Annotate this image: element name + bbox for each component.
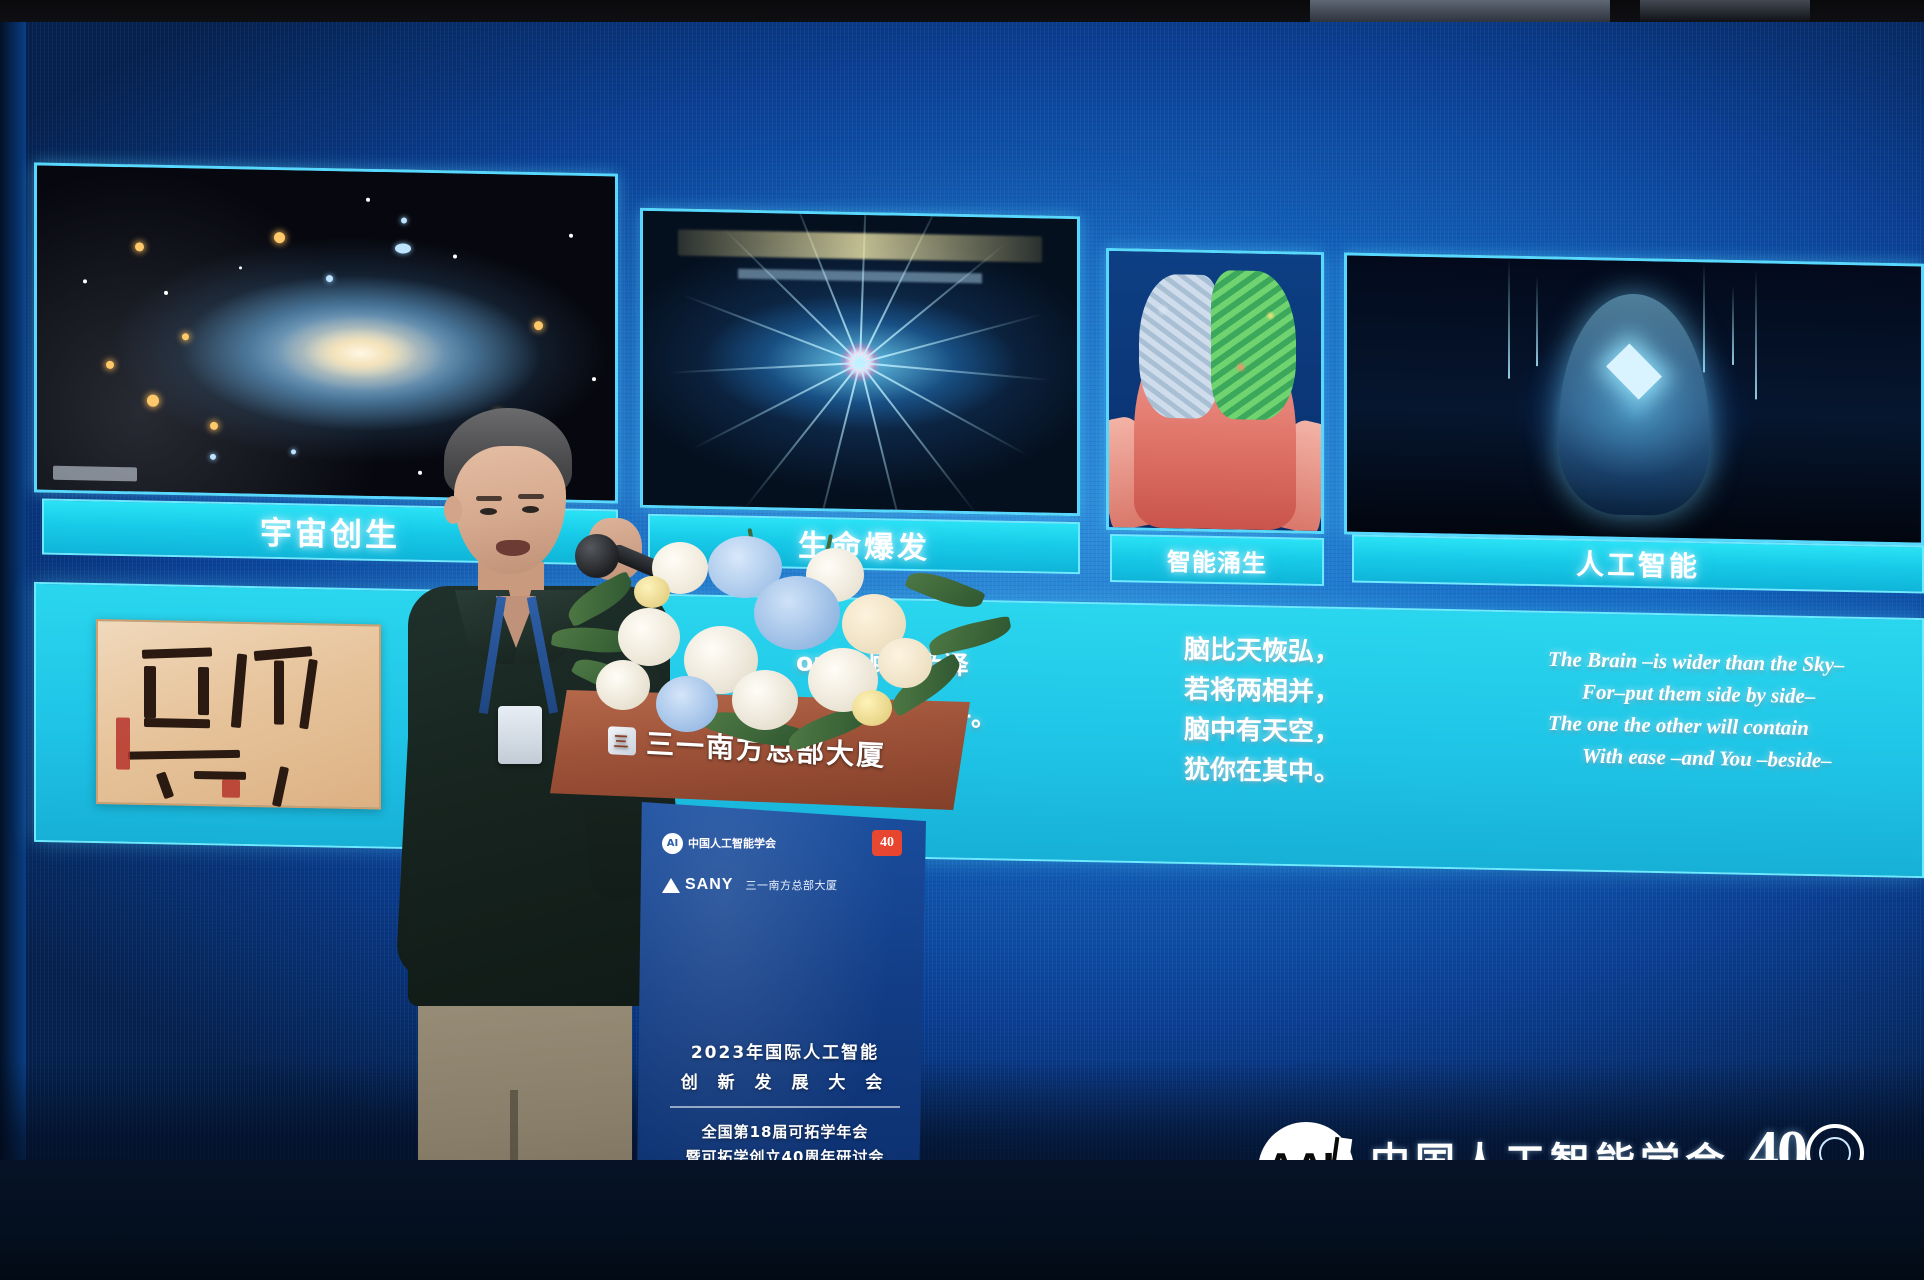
flower-yellow-accent	[634, 576, 670, 608]
speaker-mouth	[496, 540, 530, 556]
ceiling-light-panel-secondary	[1640, 0, 1810, 22]
flower-cream	[878, 638, 932, 688]
podium-sany-logo: SANY	[662, 876, 733, 894]
brain-left-hemisphere	[1139, 274, 1220, 419]
flower-hydrangea-blue	[656, 676, 718, 732]
speaker-brow-left	[476, 496, 502, 501]
podium-building-label: 三一南方总部大厦	[745, 877, 837, 893]
flower-white	[618, 608, 680, 666]
poem-cn-line-4: 犹你在其中。	[1184, 750, 1340, 793]
podium-anniversary-badge: 40	[872, 830, 902, 856]
podium-event-line-2: 创 新 发 展 大 会	[664, 1068, 906, 1093]
wall-left-edge	[0, 22, 26, 1162]
panel-caption-intelligence: 智能涌生	[1110, 534, 1324, 586]
podium-logo-row: AI 中国人工智能学会 40	[662, 830, 902, 856]
podium-sany-label: SANY	[685, 876, 733, 894]
podium-event-line-3: 全国第18届可拓学年会	[664, 1121, 906, 1142]
poem-chinese-translation: 脑比天恢弘， 若将两相并， 脑中有天空， 犹你在其中。	[1184, 630, 1340, 793]
speaker-brow-right	[518, 494, 544, 499]
ai-humanoid-head-graphic	[1347, 255, 1921, 542]
slide-panel-ai	[1344, 252, 1924, 545]
conference-stage-photo: 宇宙创生 生命爆发 智能涌生	[0, 0, 1924, 1280]
brain-right-hemisphere	[1211, 269, 1296, 420]
poem-en-line-4: With ease –and You –beside–	[1548, 739, 1844, 777]
poem-cn-line-1: 脑比天恢弘，	[1184, 630, 1340, 673]
chinese-calligraphy-scroll	[96, 619, 381, 809]
podium-caai-logo: AI 中国人工智能学会	[662, 833, 776, 854]
speaker-eye-left	[480, 508, 497, 515]
slide-panel-intelligence	[1106, 248, 1324, 534]
flower-white	[732, 670, 798, 730]
podium-sponsor-row: SANY 三一南方总部大厦	[662, 876, 912, 894]
podium-event-divider	[670, 1106, 900, 1108]
podium-event-title-block: 2023年国际人工智能 创 新 发 展 大 会 全国第18届可拓学年会 暨可拓学…	[664, 1038, 906, 1167]
flower-yellow-accent	[852, 690, 892, 726]
podium-caai-mark-icon: AI	[662, 833, 683, 854]
flower-hydrangea-blue	[754, 576, 840, 650]
sany-triangle-icon	[662, 878, 680, 893]
speaker-ear	[444, 496, 462, 524]
stage-floor	[0, 1160, 1924, 1280]
poem-cn-line-3: 脑中有天空，	[1184, 710, 1340, 753]
podium-event-line-1: 2023年国际人工智能	[664, 1038, 906, 1063]
flower-white	[596, 660, 650, 710]
speaker-name-badge	[498, 706, 542, 764]
poem-cn-line-2: 若将两相并，	[1184, 670, 1340, 713]
brain-hemispheres-graphic	[1109, 251, 1321, 531]
flower-arrangement	[556, 520, 1006, 770]
podium-caai-label: 中国人工智能学会	[688, 835, 776, 851]
poem-english-original: The Brain –is wider than the Sky– For–pu…	[1548, 643, 1844, 777]
image-watermark	[53, 466, 137, 482]
speaker-eye-right	[522, 506, 539, 513]
